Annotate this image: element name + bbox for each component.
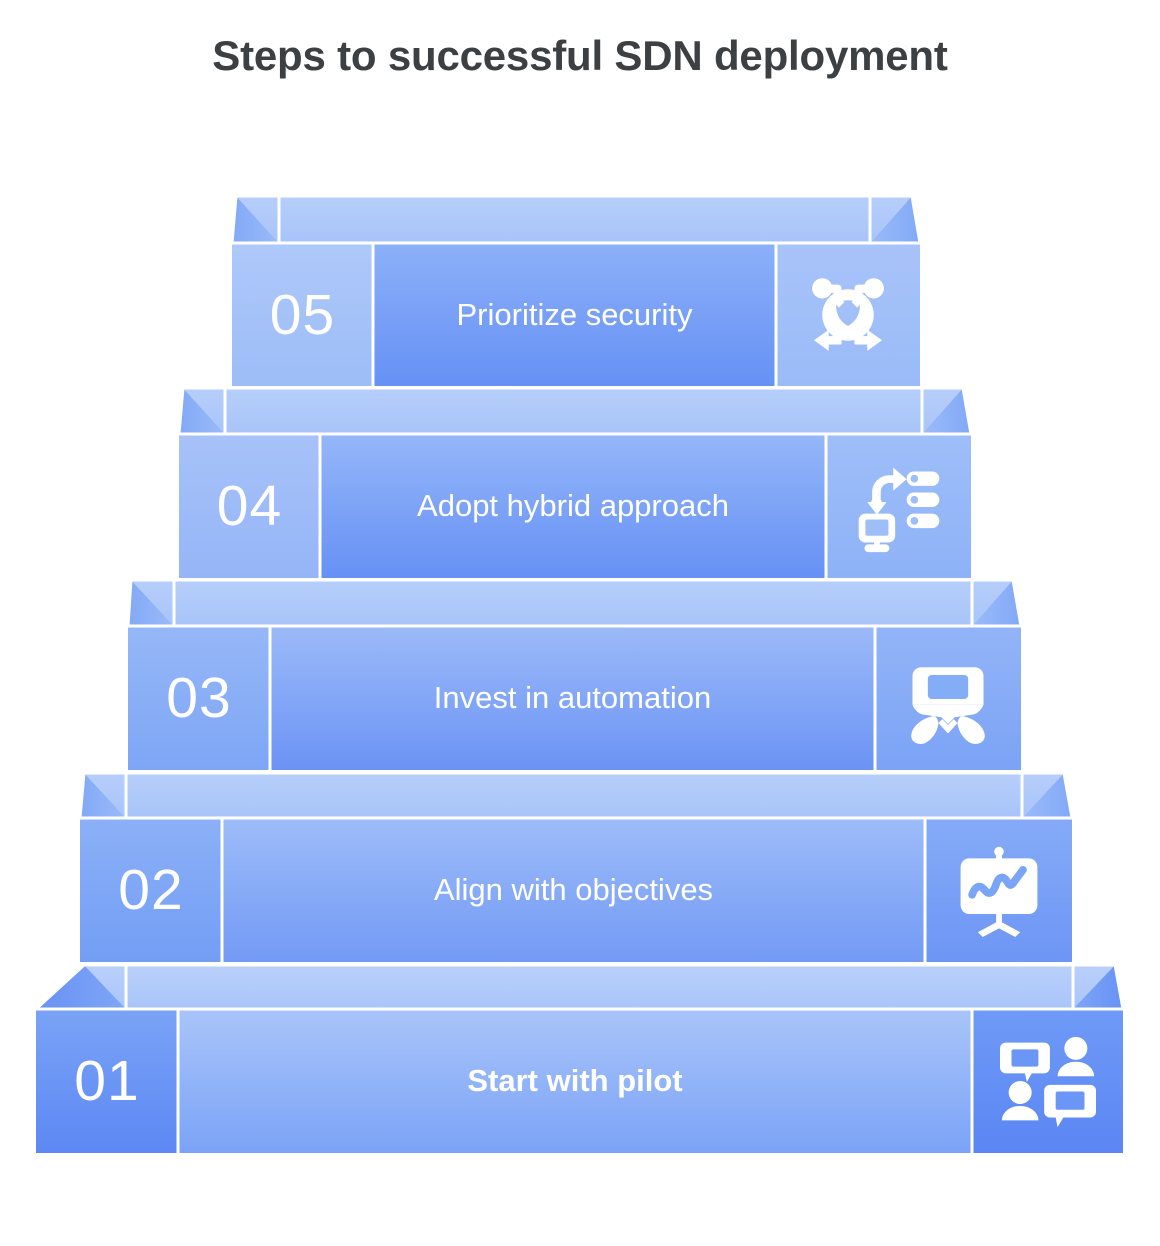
step-05-shape[interactable] (232, 196, 920, 386)
steps-diagram (0, 0, 1160, 1246)
step-04-shape[interactable] (179, 388, 971, 578)
infographic-root: Steps to successful SDN deployment (0, 0, 1160, 1246)
step-02-shape[interactable] (80, 773, 1072, 962)
step-01-shape[interactable] (36, 965, 1123, 1153)
step-03-shape[interactable] (128, 580, 1021, 770)
